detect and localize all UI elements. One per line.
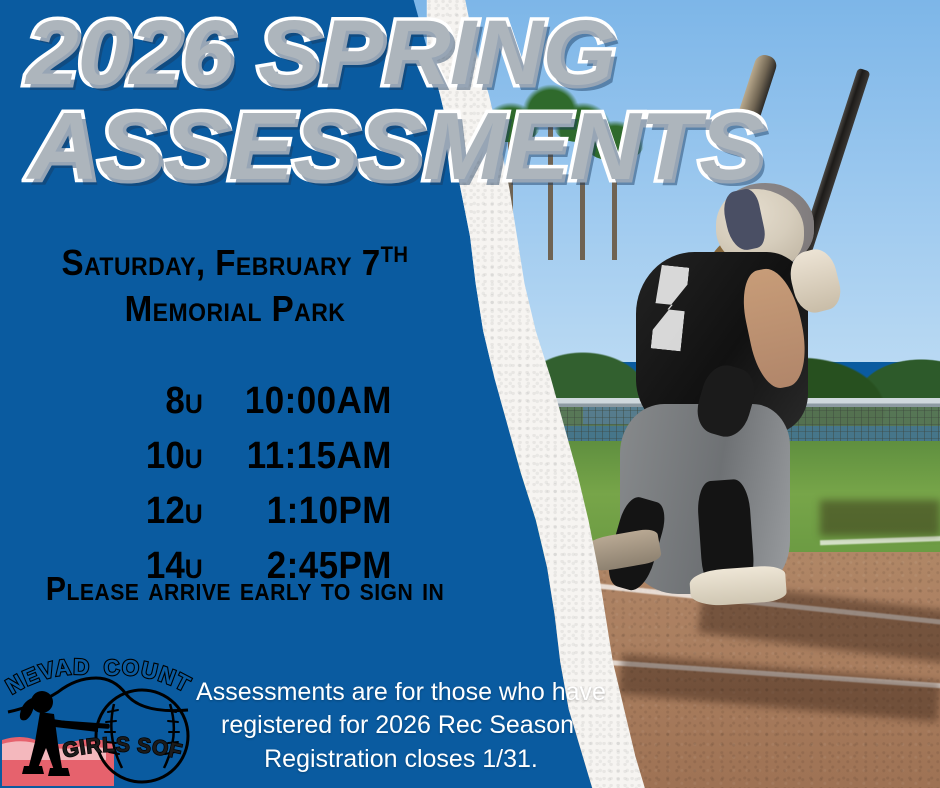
event-date: Saturday, February 7TH bbox=[19, 240, 451, 286]
spring-assessments-flyer: 2026 SPRING ASSESSMENTS Saturday, Februa… bbox=[0, 0, 940, 788]
palm-tree-icon bbox=[612, 146, 617, 260]
schedule-time: 10:00AM bbox=[228, 380, 392, 423]
palm-tree-icon bbox=[548, 110, 553, 260]
schedule-row: 12u 1:10PM bbox=[0, 490, 500, 533]
footnote-line-1: Assessments are for those who have bbox=[178, 676, 624, 709]
assessment-schedule: 8u 10:00AM 10u 11:15AM 12u 1:10PM 14u 2:… bbox=[0, 380, 500, 600]
logo-word-nevada: NEVADA bbox=[2, 648, 91, 699]
event-location: Memorial Park bbox=[19, 286, 451, 332]
arrival-note: Please arrive early to sign in bbox=[20, 570, 471, 608]
schedule-row: 8u 10:00AM bbox=[0, 380, 500, 423]
schedule-age-group: 10u bbox=[105, 435, 203, 478]
event-subhead: Saturday, February 7TH Memorial Park bbox=[0, 240, 470, 332]
registration-footnote: Assessments are for those who have regis… bbox=[178, 676, 624, 776]
nevada-county-girls-softball-logo: NEVADA COUNTY GIRLS SOFTBALL bbox=[2, 648, 194, 786]
footnote-line-2: registered for 2026 Rec Season. bbox=[178, 709, 624, 742]
schedule-age-group: 8u bbox=[105, 380, 203, 423]
schedule-row: 10u 11:15AM bbox=[0, 435, 500, 478]
schedule-time: 1:10PM bbox=[228, 490, 392, 533]
schedule-time: 11:15AM bbox=[228, 435, 392, 478]
event-date-text: Saturday, February 7 bbox=[62, 242, 381, 283]
palm-tree-icon bbox=[580, 128, 585, 260]
ground-shadow bbox=[820, 500, 940, 536]
schedule-age-group: 12u bbox=[105, 490, 203, 533]
palm-tree-icon bbox=[508, 128, 513, 262]
footnote-line-3: Registration closes 1/31. bbox=[178, 743, 624, 776]
event-date-ordinal: TH bbox=[381, 242, 409, 267]
